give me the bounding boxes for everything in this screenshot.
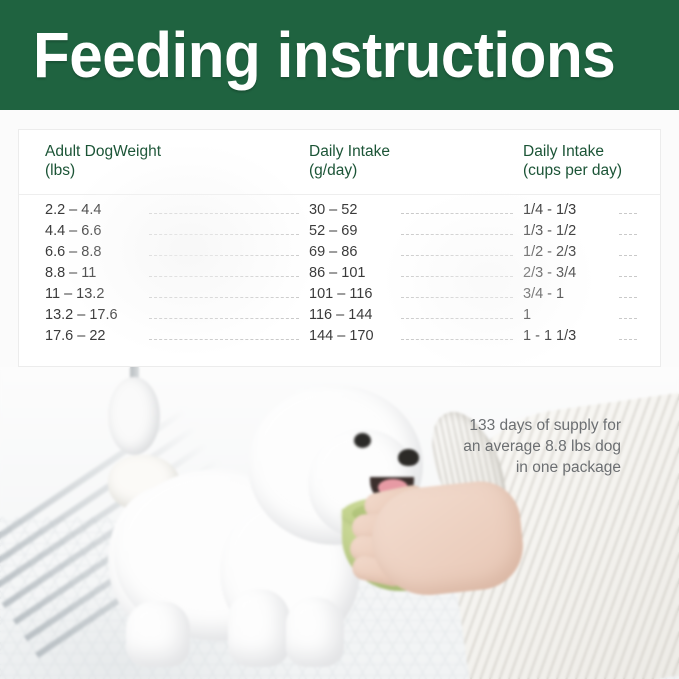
cell-cups: 1 - 1 1/3	[523, 328, 576, 344]
leader-line	[149, 234, 299, 235]
cell-grams: 69 – 86	[309, 244, 357, 260]
feeding-instructions-page: Feeding instructions Adult DogWeight (lb…	[0, 0, 679, 679]
cell-weight: 6.6 – 8.8	[45, 244, 101, 260]
leader-line	[401, 339, 513, 340]
leader-line	[401, 276, 513, 277]
cell-cups: 1/4 - 1/3	[523, 202, 576, 218]
cell-grams: 30 – 52	[309, 202, 357, 218]
leader-line	[149, 297, 299, 298]
leader-line	[149, 213, 299, 214]
header-divider	[19, 194, 660, 195]
supply-note: 133 days of supply for an average 8.8 lb…	[391, 415, 621, 478]
supply-note-line-3: in one package	[391, 457, 621, 478]
table-body: 2.2 – 4.4 30 – 52 1/4 - 1/3 4.4 – 6.6 52…	[19, 202, 660, 349]
table-row: 6.6 – 8.8 69 – 86 1/2 - 2/3	[19, 244, 660, 265]
leader-line	[619, 255, 637, 256]
cell-cups: 2/3 - 3/4	[523, 265, 576, 281]
supply-note-line-2: an average 8.8 lbs dog	[391, 436, 621, 457]
cell-weight: 13.2 – 17.6	[45, 307, 118, 323]
column-header-grams: Daily Intake (g/day)	[309, 142, 390, 180]
cell-cups: 1/2 - 2/3	[523, 244, 576, 260]
column-header-grams-title: Daily Intake	[309, 143, 390, 160]
cell-weight: 17.6 – 22	[45, 328, 105, 344]
cell-grams: 86 – 101	[309, 265, 365, 281]
leader-line	[149, 318, 299, 319]
dog-eye	[354, 433, 371, 448]
leader-line	[149, 339, 299, 340]
leader-line	[149, 255, 299, 256]
leader-line	[619, 234, 637, 235]
column-header-grams-unit: (g/day)	[309, 161, 390, 180]
cell-weight: 11 – 13.2	[45, 286, 104, 302]
cell-grams: 101 – 116	[309, 286, 372, 302]
supply-note-line-1: 133 days of supply for	[391, 415, 621, 436]
table-row: 17.6 – 22 144 – 170 1 - 1 1/3	[19, 328, 660, 349]
column-header-weight-title: Adult DogWeight	[45, 143, 161, 160]
cell-grams: 144 – 170	[309, 328, 374, 344]
cell-weight: 8.8 – 11	[45, 265, 96, 281]
table-row: 11 – 13.2 101 – 116 3/4 - 1	[19, 286, 660, 307]
cell-weight: 4.4 – 6.6	[45, 223, 101, 239]
cell-cups: 3/4 - 1	[523, 286, 564, 302]
leader-line	[401, 213, 513, 214]
leader-line	[401, 318, 513, 319]
leader-line	[619, 213, 637, 214]
dog-front-leg	[228, 589, 290, 667]
leader-line	[619, 276, 637, 277]
dog-back-leg	[126, 601, 190, 667]
cell-grams: 116 – 144	[309, 307, 372, 323]
table-row: 2.2 – 4.4 30 – 52 1/4 - 1/3	[19, 202, 660, 223]
dog-ear	[108, 377, 160, 455]
column-header-cups: Daily Intake (cups per day)	[523, 142, 622, 180]
leader-line	[619, 297, 637, 298]
leader-line	[619, 339, 637, 340]
page-title: Feeding instructions	[33, 23, 615, 87]
cell-cups: 1	[523, 307, 531, 323]
cell-weight: 2.2 – 4.4	[45, 202, 101, 218]
leader-line	[401, 297, 513, 298]
leader-line	[401, 234, 513, 235]
table-header-row: Adult DogWeight (lbs) Daily Intake (g/da…	[19, 130, 660, 194]
feeding-table-card: Adult DogWeight (lbs) Daily Intake (g/da…	[18, 129, 661, 367]
column-header-cups-unit: (cups per day)	[523, 161, 622, 180]
dog-front-leg-2	[286, 597, 344, 667]
column-header-weight: Adult DogWeight (lbs)	[45, 142, 161, 180]
product-photo	[0, 367, 679, 679]
table-row: 4.4 – 6.6 52 – 69 1/3 - 1/2	[19, 223, 660, 244]
leader-line	[619, 318, 637, 319]
cell-grams: 52 – 69	[309, 223, 357, 239]
column-header-weight-unit: (lbs)	[45, 161, 161, 180]
leader-line	[149, 276, 299, 277]
header-banner: Feeding instructions	[0, 0, 679, 110]
cell-cups: 1/3 - 1/2	[523, 223, 576, 239]
column-header-cups-title: Daily Intake	[523, 143, 604, 160]
leader-line	[401, 255, 513, 256]
table-row: 13.2 – 17.6 116 – 144 1	[19, 307, 660, 328]
table-row: 8.8 – 11 86 – 101 2/3 - 3/4	[19, 265, 660, 286]
